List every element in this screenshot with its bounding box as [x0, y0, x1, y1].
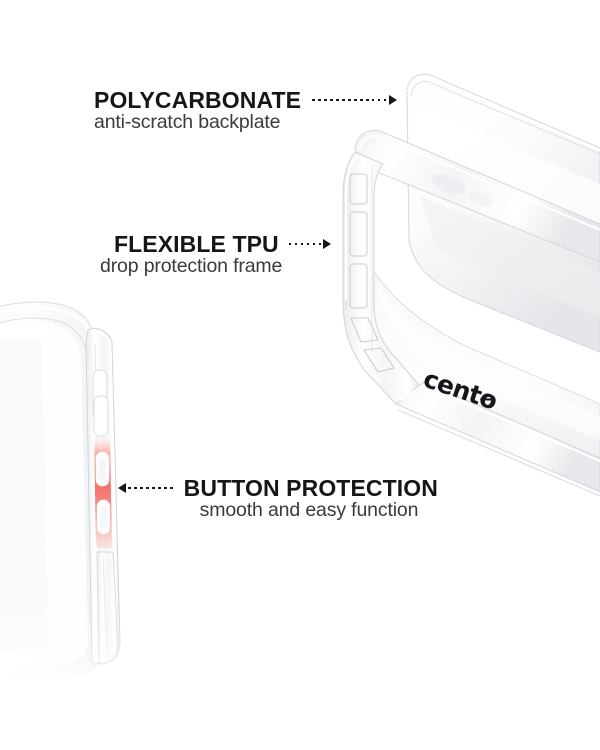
callout-button-protection-subtitle: smooth and easy function	[118, 500, 438, 521]
callout-polycarbonate: POLYCARBONATE anti-scratch backplate	[94, 88, 397, 134]
callout-flexible-tpu-title: FLEXIBLE TPU	[114, 232, 279, 256]
callout-button-protection: BUTTON PROTECTION smooth and easy functi…	[118, 476, 438, 522]
arrow-right-to-tpu-frame-icon	[289, 238, 332, 250]
callout-button-protection-title-row: BUTTON PROTECTION	[118, 476, 438, 500]
callout-polycarbonate-subtitle: anti-scratch backplate	[94, 112, 397, 133]
arrow-left-to-buttons-icon	[118, 482, 173, 494]
callout-polycarbonate-title-row: POLYCARBONATE	[94, 88, 397, 112]
arrow-right-to-backplate-icon	[312, 94, 397, 106]
callout-flexible-tpu-subtitle: drop protection frame	[100, 256, 331, 277]
upper-case-illustration	[343, 74, 600, 496]
callout-polycarbonate-title: POLYCARBONATE	[94, 88, 301, 112]
callout-flexible-tpu-title-row: FLEXIBLE TPU	[100, 232, 331, 256]
infographic-canvas: cento POLYCARBONATE anti-scratch backpla…	[0, 0, 600, 750]
lower-case-illustration	[0, 302, 120, 690]
callout-button-protection-title: BUTTON PROTECTION	[184, 476, 438, 500]
callout-flexible-tpu: FLEXIBLE TPU drop protection frame	[100, 232, 331, 278]
brand-logo: cento	[420, 364, 501, 416]
